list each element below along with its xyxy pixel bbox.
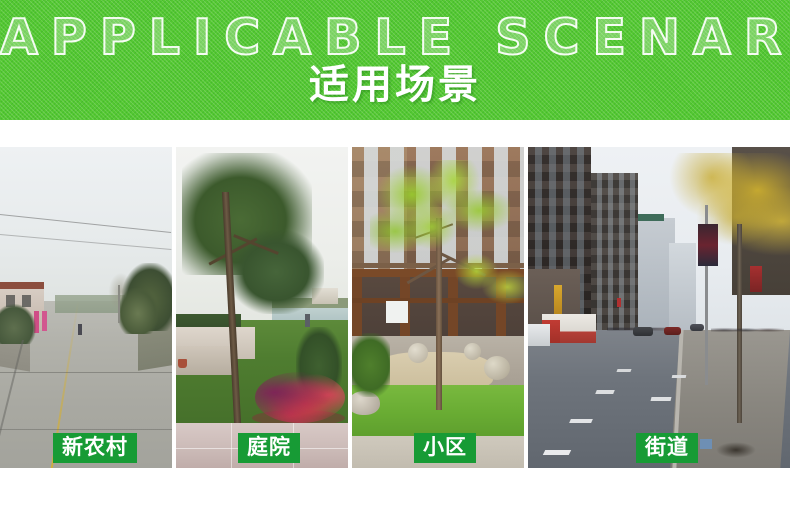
scenario-panel-rural-village[interactable]: 新农村 xyxy=(0,147,172,468)
scenario-panel-courtyard[interactable]: 庭院 xyxy=(176,147,348,468)
scenario-panel-street[interactable]: 街道 xyxy=(528,147,790,468)
banner-title-chinese: 适用场景 xyxy=(0,62,790,108)
photo-rural-village-road xyxy=(0,147,172,468)
header-banner: APPLICABLE SCENARIOS 适用场景 xyxy=(0,0,790,120)
photo-city-street xyxy=(528,147,790,468)
scenario-badge-residential: 小区 xyxy=(414,433,476,463)
banner-title-english: APPLICABLE SCENARIOS xyxy=(0,12,790,64)
applicable-scenarios-page: APPLICABLE SCENARIOS 适用场景 xyxy=(0,0,790,511)
scenario-badge-rural-village: 新农村 xyxy=(53,433,137,463)
photo-residential-compound xyxy=(352,147,524,468)
photo-courtyard-garden xyxy=(176,147,348,468)
scenario-badge-courtyard: 庭院 xyxy=(238,433,300,463)
scenario-panel-residential[interactable]: 小区 xyxy=(352,147,524,468)
scenario-badge-street: 街道 xyxy=(636,433,698,463)
scenario-gallery: 新农村 xyxy=(0,147,790,468)
